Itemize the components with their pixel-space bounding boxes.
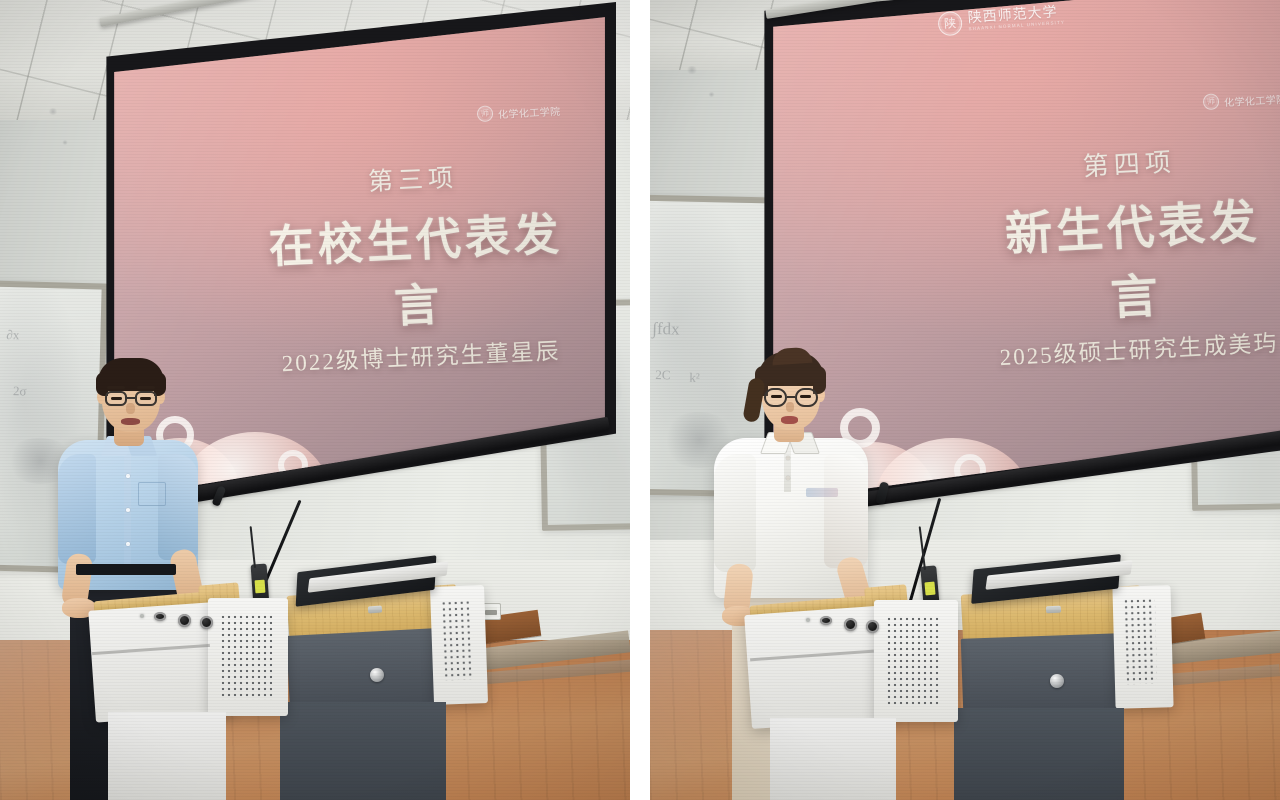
lectern-speaker-grille-near-right <box>886 616 940 706</box>
university-name-cn: 陕西师范大学 <box>155 19 258 40</box>
walkie-talkie-label-left <box>255 580 266 594</box>
lectern-knob-c-left[interactable] <box>200 616 213 629</box>
lectern-speaker-grille-left <box>220 614 272 700</box>
lectern-lower-dark-left <box>280 702 446 800</box>
slide-text-block-right: 第四项 新生代表发言 2025级硕士研究生成美玙 <box>978 136 1280 372</box>
speaker-left-sleeve-right <box>714 454 756 572</box>
lectern-latch-right <box>1046 606 1061 614</box>
lectern-latch-left <box>368 606 382 614</box>
lectern-speaker-grille-right <box>441 600 474 681</box>
university-name-cn-right: 陕西师范大学 <box>967 6 1064 27</box>
speaker-chest-logo-right <box>806 488 838 497</box>
lectern-knob-a-left[interactable] <box>154 612 166 621</box>
collage-gutter <box>630 0 650 800</box>
slide-item-label-left: 第三项 <box>247 153 578 204</box>
university-seal-icon-right: 陕 <box>937 11 963 37</box>
university-seal-icon: 陕 <box>123 22 150 49</box>
walkie-talkie-label-right <box>924 582 935 596</box>
school-seal-icon-right: 师 <box>1202 93 1219 110</box>
lectern-knob-a-right[interactable] <box>820 616 832 625</box>
slide-text-block-left: 第三项 在校生代表发言 2022级博士研究生董星辰 <box>247 153 586 380</box>
slide-subtitle-left: 2022级博士研究生董星辰 <box>255 330 586 379</box>
lectern-dark-panel-right <box>961 633 1124 715</box>
speaker-right-sleeve-right <box>824 454 868 568</box>
photo-panel-left: ∂x 2σ <box>0 0 630 800</box>
lectern-lock-left[interactable] <box>370 668 384 682</box>
school-name-cn-right: 化学化工学院 <box>1223 90 1280 108</box>
photo-panel-right: ∫fdx 2C k² <box>650 0 1280 800</box>
university-name-en-right: SHAANXI NORMAL UNIVERSITY <box>968 21 1065 32</box>
slide-subtitle-right: 2025级硕士研究生成美玙 <box>988 323 1280 373</box>
lectern-knob-b-right[interactable] <box>844 618 857 631</box>
lectern-speaker-grille-far-right <box>1123 598 1157 685</box>
lectern-knob-c-right[interactable] <box>866 620 879 633</box>
speaker-shirt-pocket <box>138 482 166 506</box>
lectern-left <box>92 556 512 800</box>
photo-collage: ∂x 2σ <box>0 0 1280 800</box>
lectern-knob-b-left[interactable] <box>178 614 191 627</box>
speaker-right-sleeve <box>158 454 198 560</box>
lectern-base-left <box>108 712 226 800</box>
school-logo-right: 师 化学化工学院 <box>1202 90 1280 110</box>
school-seal-icon: 师 <box>476 105 493 122</box>
school-name-cn: 化学化工学院 <box>497 102 560 120</box>
slide-item-label-right: 第四项 <box>978 136 1280 189</box>
lectern-right <box>750 556 1190 800</box>
lectern-lower-dark-right <box>954 708 1124 800</box>
lectern-base-right <box>770 718 896 800</box>
speaker-left-sleeve <box>58 454 96 564</box>
school-logo-left: 师 化学化工学院 <box>476 102 560 122</box>
lectern-lock-right[interactable] <box>1050 674 1064 688</box>
slide-title-right: 新生代表发言 <box>981 181 1280 335</box>
lectern-dark-panel-left <box>286 628 442 710</box>
slide-title-left: 在校生代表发言 <box>249 197 585 342</box>
